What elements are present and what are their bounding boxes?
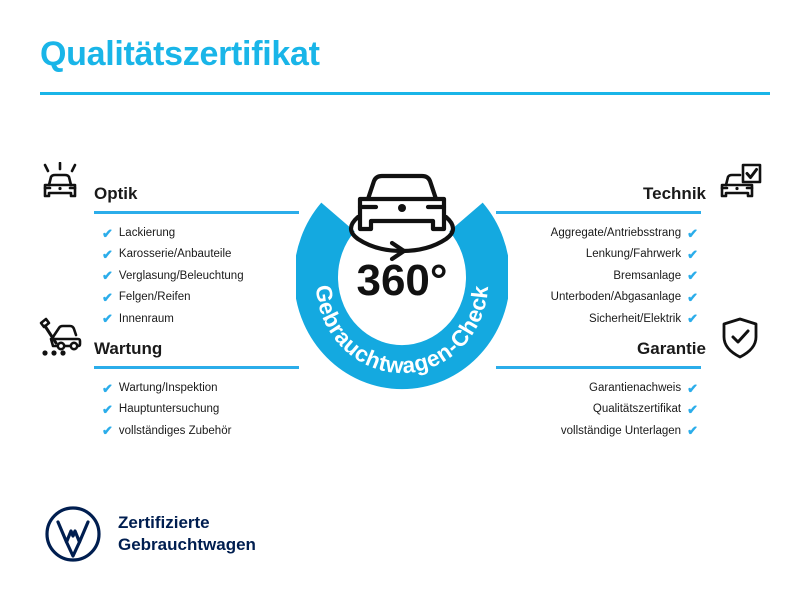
footer-line-1: Zertifizierte [118,512,256,534]
panel-garantie-divider [496,366,701,369]
panel-optik-header: Optik [34,160,304,206]
page-title: Qualitätszertifikat [40,36,770,73]
list-item-label: Aggregate/Antriebsstrang [551,226,681,240]
panel-optik-list: ✔ Lackierung ✔ Karosserie/Anbauteile ✔ V… [34,226,304,326]
list-item: ✔ Wartung/Inspektion [102,381,304,395]
list-item-label: Unterboden/Abgasanlage [551,290,681,304]
check-icon: ✔ [687,227,698,240]
page-header: Qualitätszertifikat [40,36,770,95]
list-item: ✔ Lackierung [102,226,304,240]
badge-360-check: Gebrauchtwagen-Check 360° [296,155,508,395]
check-icon: ✔ [102,269,113,282]
list-item-label: Garantienachweis [589,381,681,395]
list-item-label: Karosserie/Anbauteile [119,247,232,261]
check-icon: ✔ [102,382,113,395]
list-item-label: vollständige Unterlagen [561,424,681,438]
panel-garantie-list: ✔ Garantienachweis ✔ Qualitätszertifikat… [496,381,766,438]
panel-technik-divider [496,211,701,214]
check-icon: ✔ [102,227,113,240]
panel-optik-title: Optik [86,184,145,206]
check-icon: ✔ [687,382,698,395]
list-item: ✔ Lenkung/Fahrwerk [496,247,698,261]
panel-garantie-header: Garantie [496,315,766,361]
list-item: ✔ Bremsanlage [496,269,698,283]
check-icon: ✔ [687,248,698,261]
list-item-label: Bremsanlage [613,269,681,283]
list-item: ✔ Qualitätszertifikat [496,402,698,416]
list-item-label: Qualitätszertifikat [593,402,681,416]
panel-optik: Optik ✔ Lackierung ✔ Karosserie/Anbautei… [34,160,304,333]
vw-roundel-icon [44,505,102,563]
list-item: ✔ Garantienachweis [496,381,698,395]
shield-check-icon [714,315,766,361]
panel-garantie: Garantie ✔ Garantienachweis ✔ Qualitätsz… [496,315,766,445]
list-item-label: Felgen/Reifen [119,290,191,304]
panel-wartung-header: Wartung [34,315,304,361]
list-item: ✔ Aggregate/Antriebsstrang [496,226,698,240]
car-lift-wrench-icon [34,315,86,361]
badge-degrees: 360° [356,256,447,305]
check-icon: ✔ [687,291,698,304]
panel-wartung-divider [94,366,299,369]
footer-line-2: Gebrauchtwagen [118,534,256,556]
panel-technik-list: ✔ Aggregate/Antriebsstrang ✔ Lenkung/Fah… [496,226,766,326]
list-item: ✔ Verglasung/Beleuchtung [102,269,304,283]
list-item-label: Lenkung/Fahrwerk [586,247,681,261]
list-item-label: Lackierung [119,226,175,240]
check-icon: ✔ [102,248,113,261]
list-item: ✔ vollständige Unterlagen [496,424,698,438]
footer-brand-lockup: Zertifizierte Gebrauchtwagen [44,505,256,563]
panel-wartung-list: ✔ Wartung/Inspektion ✔ Hauptuntersuchung… [34,381,304,438]
car-checkbox-icon [714,160,766,206]
list-item: ✔ Hauptuntersuchung [102,402,304,416]
check-icon: ✔ [102,424,113,437]
list-item-label: vollständiges Zubehör [119,424,232,438]
list-item: ✔ Karosserie/Anbauteile [102,247,304,261]
panel-technik: Technik ✔ Aggregate/Antriebsstrang ✔ [496,160,766,333]
title-divider [40,92,770,95]
panel-technik-header: Technik [496,160,766,206]
check-icon: ✔ [687,403,698,416]
check-icon: ✔ [102,403,113,416]
car-rotate-icon [351,176,453,259]
list-item-label: Wartung/Inspektion [119,381,218,395]
check-icon: ✔ [687,424,698,437]
panel-wartung: Wartung ✔ Wartung/Inspektion ✔ Hauptunte… [34,315,304,445]
list-item-label: Verglasung/Beleuchtung [119,269,244,283]
check-icon: ✔ [102,291,113,304]
car-shine-icon [34,160,86,206]
check-icon: ✔ [687,269,698,282]
list-item-label: Hauptuntersuchung [119,402,219,416]
list-item: ✔ Unterboden/Abgasanlage [496,290,698,304]
panel-technik-title: Technik [635,184,714,206]
panel-wartung-title: Wartung [86,339,170,361]
footer-text: Zertifizierte Gebrauchtwagen [118,512,256,556]
list-item: ✔ Felgen/Reifen [102,290,304,304]
panel-garantie-title: Garantie [629,339,714,361]
panel-optik-divider [94,211,299,214]
list-item: ✔ vollständiges Zubehör [102,424,304,438]
